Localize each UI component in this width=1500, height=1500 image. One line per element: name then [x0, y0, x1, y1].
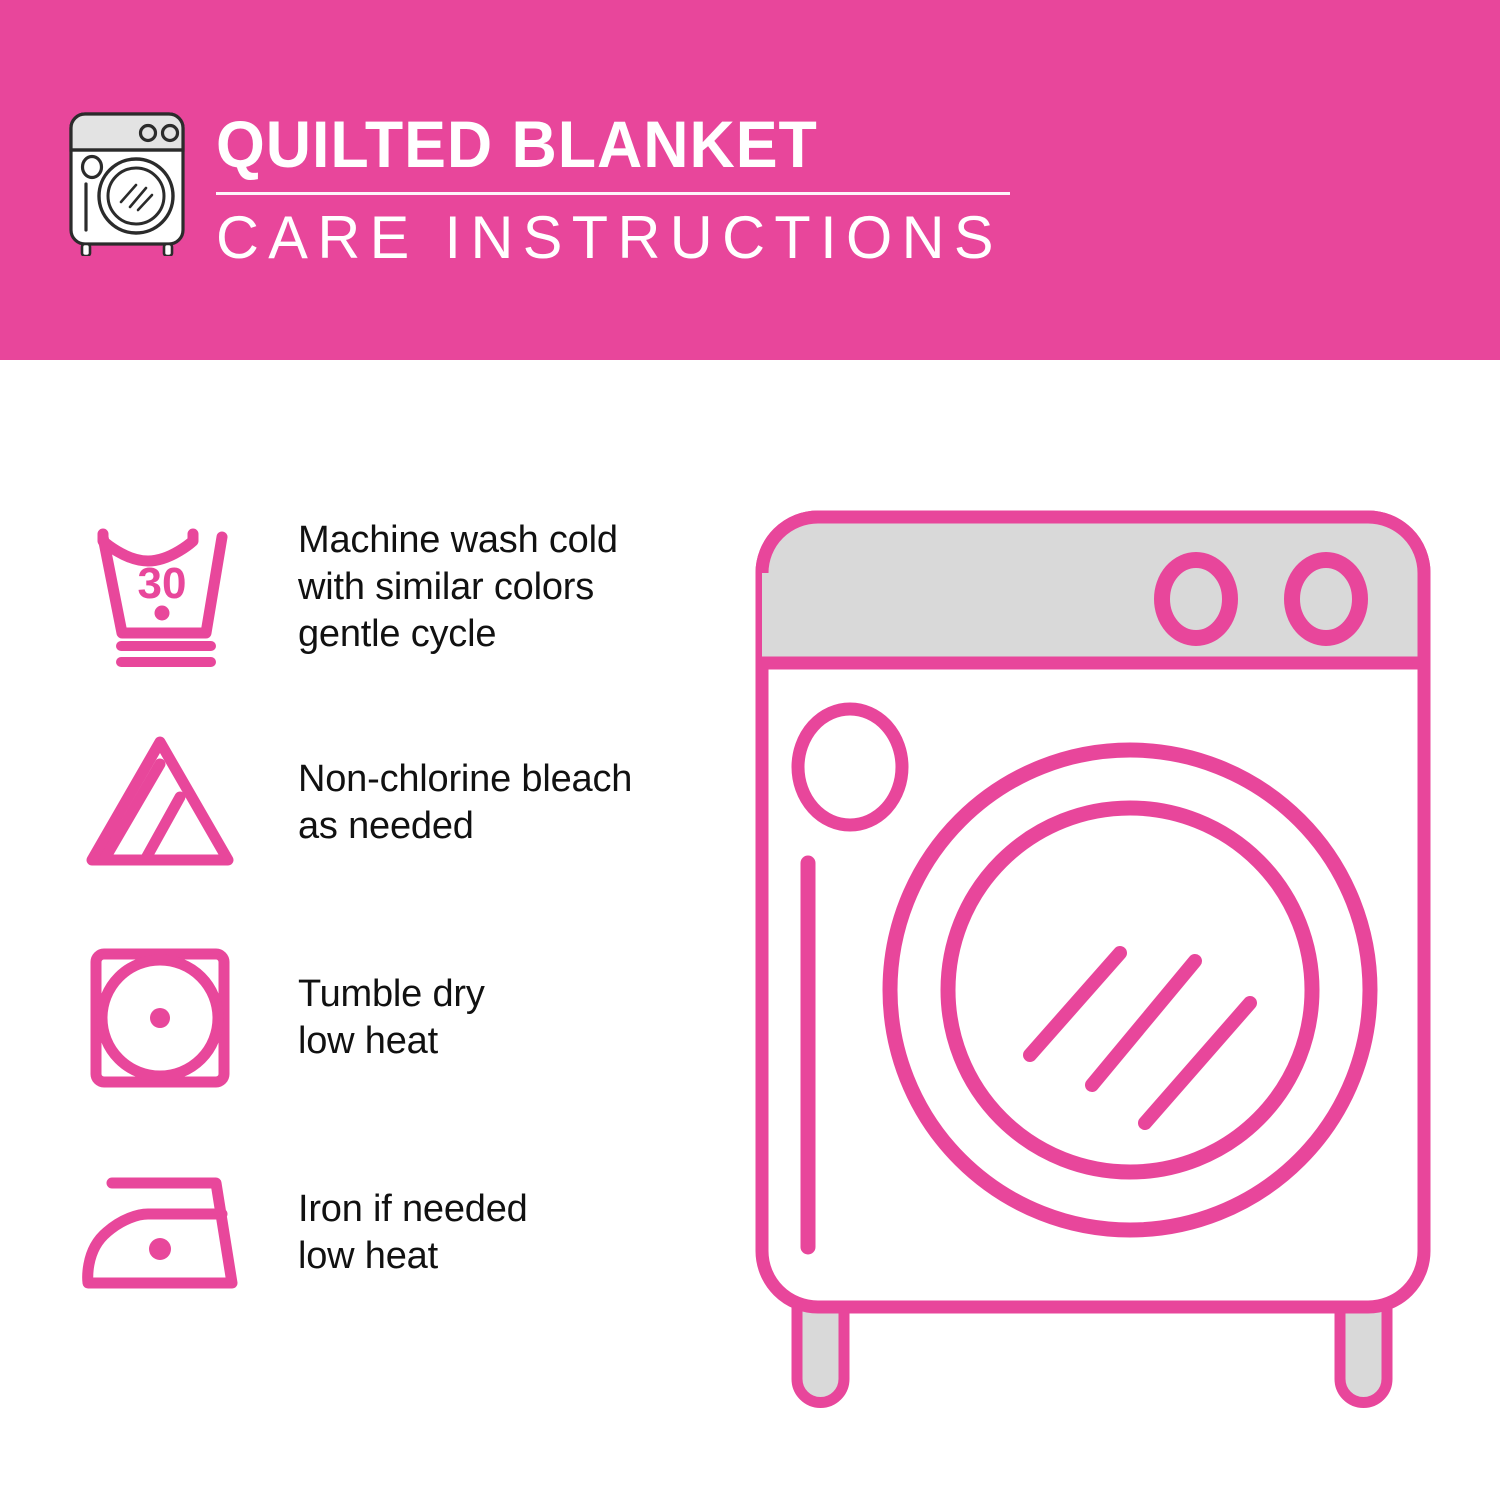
- care-line: low heat: [298, 1233, 718, 1280]
- care-instruction-list: 30 Machine wash cold with similar colors…: [70, 505, 710, 1365]
- title-divider: [216, 192, 1010, 195]
- care-line: Tumble dry: [298, 971, 718, 1018]
- care-text-tumble-dry: Tumble dry low heat: [298, 935, 718, 1100]
- iron-low-heat-icon: [70, 1150, 250, 1315]
- care-text-iron: Iron if needed low heat: [298, 1150, 718, 1315]
- care-instructions-infographic: QUILTED BLANKET CARE INSTRUCTIONS 30: [0, 0, 1500, 1500]
- wash-temperature-value: 30: [138, 559, 187, 608]
- care-text-bleach: Non-chlorine bleach as needed: [298, 720, 718, 885]
- non-chlorine-bleach-triangle-icon: [70, 720, 250, 885]
- care-line: Non-chlorine bleach: [298, 756, 718, 803]
- care-line: gentle cycle: [298, 611, 718, 658]
- care-text-machine-wash: Machine wash cold with similar colors ge…: [298, 505, 718, 670]
- care-row-iron: Iron if needed low heat: [70, 1150, 710, 1365]
- front-load-washing-machine-illustration: [740, 495, 1450, 1425]
- page-title: QUILTED BLANKET: [216, 108, 976, 180]
- care-line: as needed: [298, 803, 718, 850]
- care-row-bleach: Non-chlorine bleach as needed: [70, 720, 710, 935]
- tumble-dry-low-heat-icon: [70, 935, 250, 1100]
- care-line: Iron if needed: [298, 1186, 718, 1233]
- washing-machine-icon: [64, 108, 190, 256]
- wash-tub-30-gentle-icon: 30: [70, 505, 250, 670]
- header-text-block: QUILTED BLANKET CARE INSTRUCTIONS: [216, 108, 1016, 271]
- care-line: low heat: [298, 1018, 718, 1065]
- care-line: with similar colors: [298, 564, 718, 611]
- care-row-tumble-dry: Tumble dry low heat: [70, 935, 710, 1150]
- header-banner: QUILTED BLANKET CARE INSTRUCTIONS: [0, 0, 1500, 360]
- page-subtitle: CARE INSTRUCTIONS: [216, 205, 1008, 271]
- care-row-machine-wash: 30 Machine wash cold with similar colors…: [70, 505, 710, 720]
- care-line: Machine wash cold: [298, 517, 718, 564]
